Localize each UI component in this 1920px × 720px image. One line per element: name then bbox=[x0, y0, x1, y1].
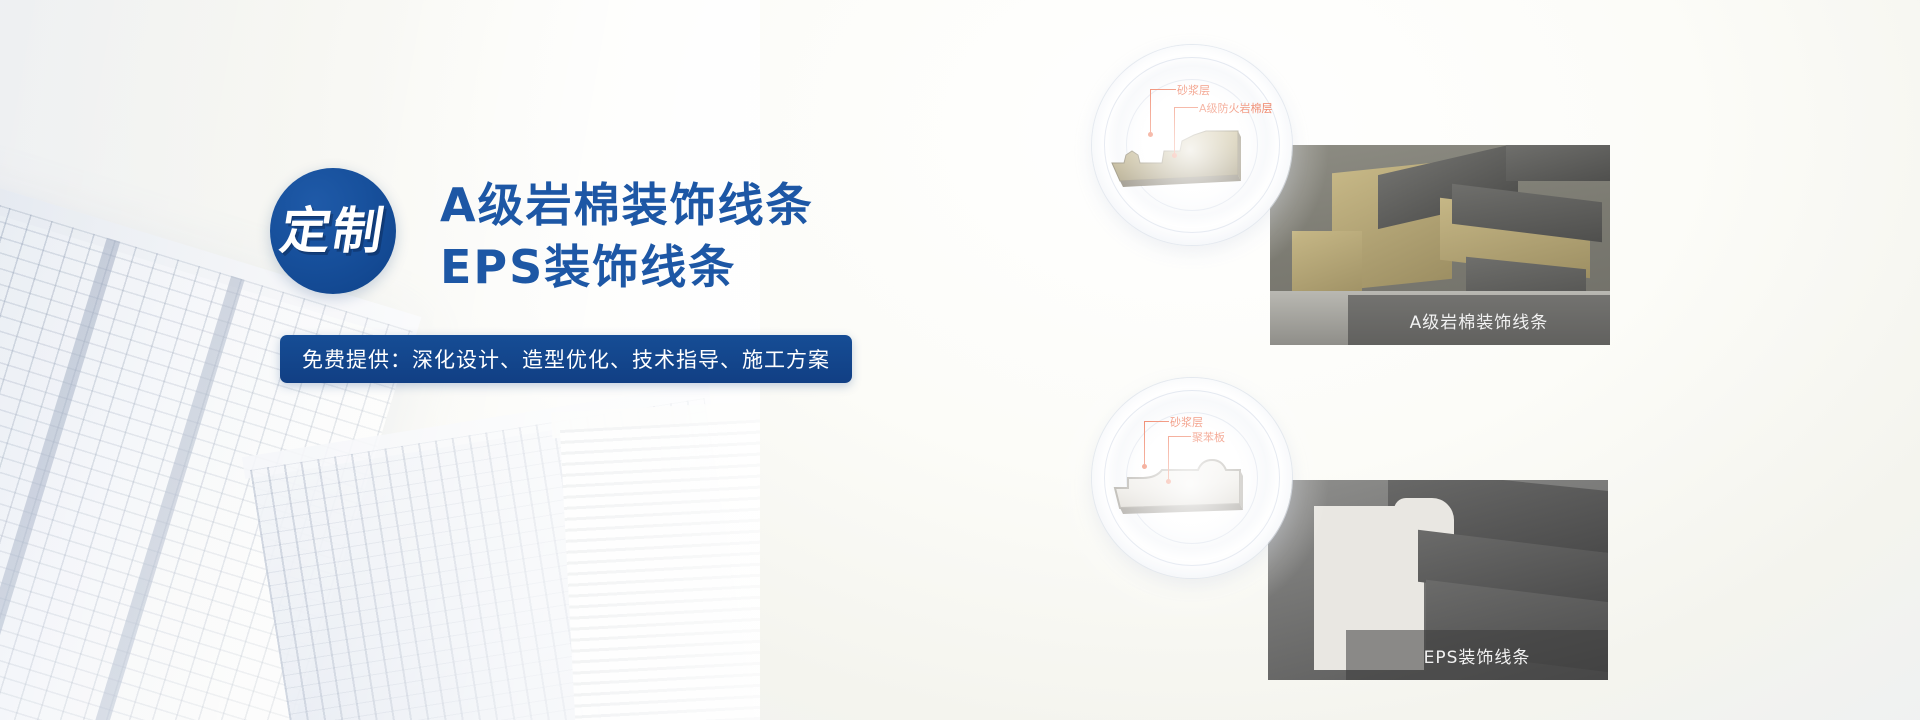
headline-line-1: A级岩棉装饰线条 bbox=[440, 174, 814, 236]
leader-line-board bbox=[1168, 436, 1169, 481]
leader-line-core bbox=[1174, 107, 1198, 108]
leader-dot-board bbox=[1166, 479, 1171, 484]
custom-badge-label: 定制 bbox=[277, 206, 389, 256]
leader-line-mortar bbox=[1144, 421, 1169, 422]
headline-line-2: EPS装饰线条 bbox=[440, 236, 814, 298]
services-ribbon-label: 免费提供：深化设计、造型优化、技术指导、施工方案 bbox=[302, 344, 830, 374]
cutaway-label-mortar: 砂浆层 bbox=[1177, 82, 1210, 98]
banner-stage: 定制 A级岩棉装饰线条 EPS装饰线条 免费提供：深化设计、造型优化、技术指导、… bbox=[0, 0, 1920, 720]
product-photo-eps: EPS装饰线条 bbox=[1268, 480, 1608, 680]
custom-badge: 定制 bbox=[270, 168, 396, 294]
rockwool-cross-section-shape bbox=[1110, 129, 1260, 191]
leader-line-board bbox=[1168, 436, 1191, 437]
page-title: A级岩棉装饰线条 EPS装饰线条 bbox=[440, 174, 814, 298]
product-caption-label: A级岩棉装饰线条 bbox=[1410, 308, 1549, 333]
leader-line-mortar bbox=[1150, 89, 1176, 90]
leader-dot-mortar bbox=[1148, 132, 1153, 137]
cutaway-label-eps-board: 聚苯板 bbox=[1192, 429, 1225, 445]
cutaway-label-rockwool-core: A级防火岩棉层 bbox=[1199, 100, 1273, 116]
rockwool-rack bbox=[1506, 145, 1610, 181]
cutaway-inset-rockwool: 砂浆层 A级防火岩棉层 bbox=[1092, 45, 1292, 245]
leader-dot-mortar bbox=[1142, 464, 1147, 469]
product-caption-rockwool: A级岩棉装饰线条 bbox=[1348, 295, 1610, 345]
services-ribbon: 免费提供：深化设计、造型优化、技术指导、施工方案 bbox=[280, 335, 852, 383]
leader-line-core bbox=[1174, 107, 1175, 155]
product-photo-rockwool: A级岩棉装饰线条 bbox=[1270, 145, 1610, 345]
product-caption-label: EPS装饰线条 bbox=[1424, 643, 1531, 668]
product-showcase: A级岩棉装饰线条 砂浆层 bbox=[1010, 0, 1920, 720]
leader-dot-core bbox=[1172, 153, 1177, 158]
leader-line-mortar bbox=[1150, 89, 1151, 134]
leader-line-mortar bbox=[1144, 421, 1145, 466]
banner-copy-block: 定制 A级岩棉装饰线条 EPS装饰线条 免费提供：深化设计、造型优化、技术指导、… bbox=[262, 160, 902, 500]
cutaway-inset-eps: 砂浆层 聚苯板 bbox=[1092, 378, 1292, 578]
cutaway-label-mortar: 砂浆层 bbox=[1170, 414, 1203, 430]
product-caption-eps: EPS装饰线条 bbox=[1346, 630, 1608, 680]
eps-cross-section-shape bbox=[1112, 458, 1262, 518]
